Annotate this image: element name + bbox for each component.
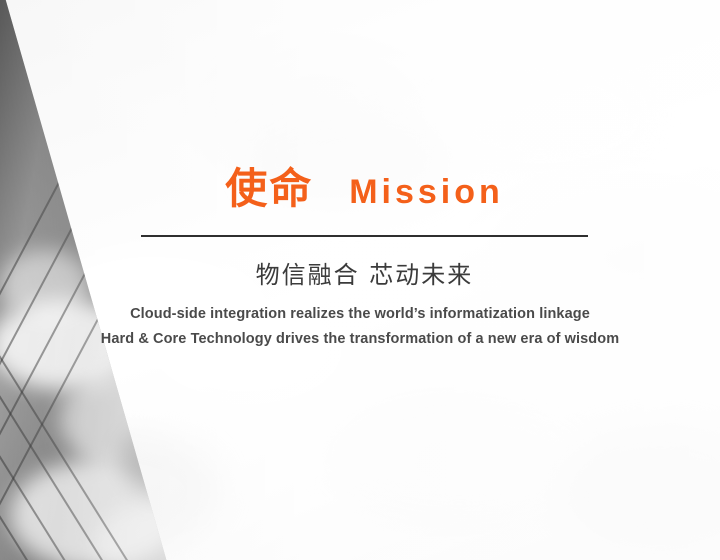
tagline-line-1: Cloud-side integration realizes the worl…	[60, 302, 660, 327]
mission-banner: 使命 Mission 物信融合 芯动未来 Cloud-side integrat…	[0, 0, 720, 560]
tagline-block: Cloud-side integration realizes the worl…	[60, 302, 660, 352]
title-divider	[141, 235, 588, 237]
title-chinese: 使命	[225, 168, 313, 210]
tagline-line-2: Hard & Core Technology drives the transf…	[60, 327, 660, 352]
banner-content: 使命 Mission 物信融合 芯动未来 Cloud-side integrat…	[0, 0, 720, 560]
subtitle-chinese: 物信融合 芯动未来	[141, 258, 588, 292]
title-english: Mission	[349, 175, 504, 209]
page-title: 使命 Mission	[141, 168, 588, 210]
